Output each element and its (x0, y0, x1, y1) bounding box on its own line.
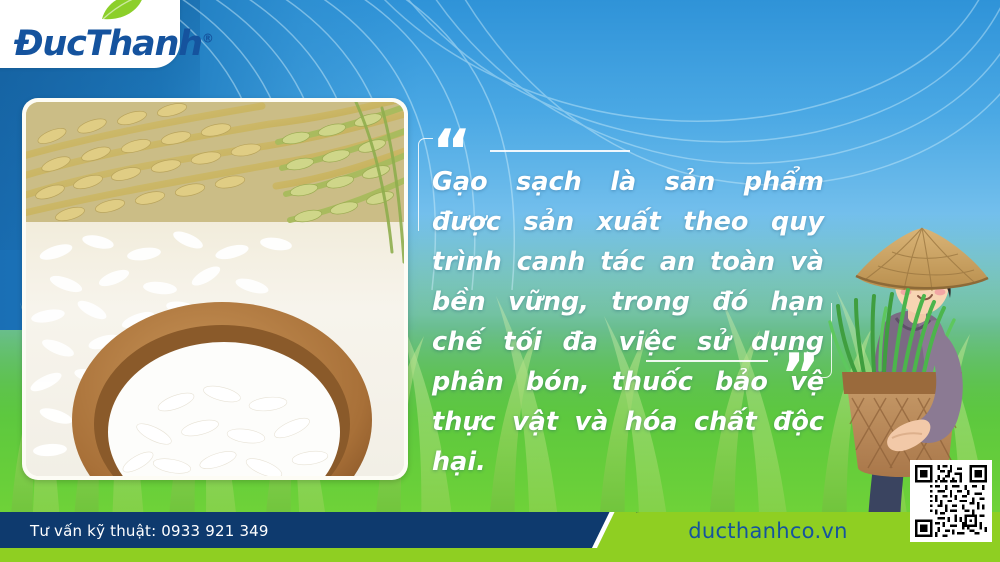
footer-green-strip (0, 548, 1000, 562)
registered-mark: ® (202, 31, 213, 45)
footer-website-text[interactable]: ducthanhco.vn (618, 512, 918, 550)
qr-code[interactable] (910, 460, 992, 542)
brand-logo[interactable]: ĐucThanh® (14, 12, 213, 62)
quote-rule-top (490, 150, 630, 152)
rice-photo (26, 102, 404, 476)
quote-close-mark: ” (781, 346, 818, 406)
quote-block: “ Gạo sạch là sản phẩm được sản xuất the… (418, 124, 830, 392)
quote-text: Gạo sạch là sản phẩm được sản xuất theo … (432, 162, 824, 482)
quote-bracket-left (418, 138, 433, 231)
leaf-icon (100, 0, 146, 22)
logo-wordmark: ĐucThanh® (14, 27, 213, 62)
poster-canvas: ĐucThanh® (0, 0, 1000, 562)
logo-panel: ĐucThanh® (0, 0, 180, 68)
footer-contact-text: Tư vấn kỹ thuật: 0933 921 349 (30, 512, 269, 550)
quote-rule-bottom (646, 360, 768, 362)
rice-photo-card (22, 98, 408, 480)
